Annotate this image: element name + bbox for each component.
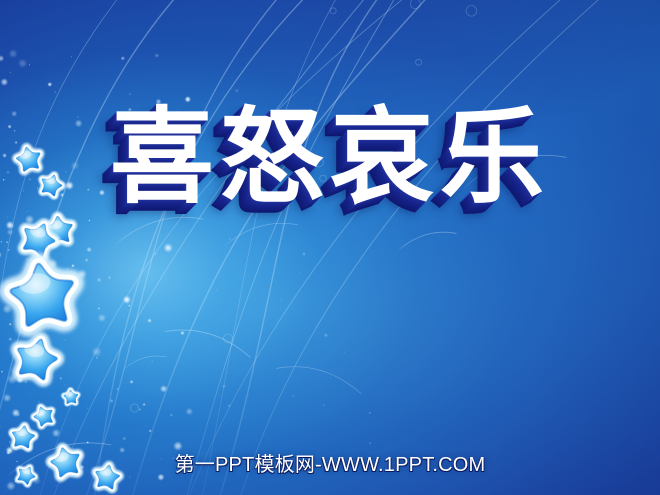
background-glow-soft — [0, 0, 660, 495]
background-arc-lines — [0, 0, 660, 495]
page-title: 喜怒哀乐 — [110, 96, 550, 219]
star-tiny-6 — [63, 389, 79, 404]
star-medium-1 — [18, 218, 60, 259]
star-tiny-3 — [31, 404, 56, 428]
watermark-text: 第一PPT模板网-WWW.1PPT.COM — [175, 448, 486, 477]
background-base — [0, 0, 660, 495]
star-large-1 — [7, 259, 78, 327]
star-small-1 — [44, 215, 74, 244]
sparkle-particles — [0, 0, 660, 495]
decorative-stars — [0, 0, 660, 495]
star-medium-2 — [12, 335, 61, 382]
background-glow-main — [0, 0, 660, 495]
footer-block: 第一PPT模板网-WWW.1PPT.COM — [0, 448, 660, 477]
slide-canvas: 喜怒哀乐 第一PPT模板网-WWW.1PPT.COM — [0, 0, 660, 495]
star-tiny-4 — [10, 424, 35, 449]
background-vignette — [0, 0, 660, 495]
title-block: 喜怒哀乐 — [0, 96, 660, 219]
